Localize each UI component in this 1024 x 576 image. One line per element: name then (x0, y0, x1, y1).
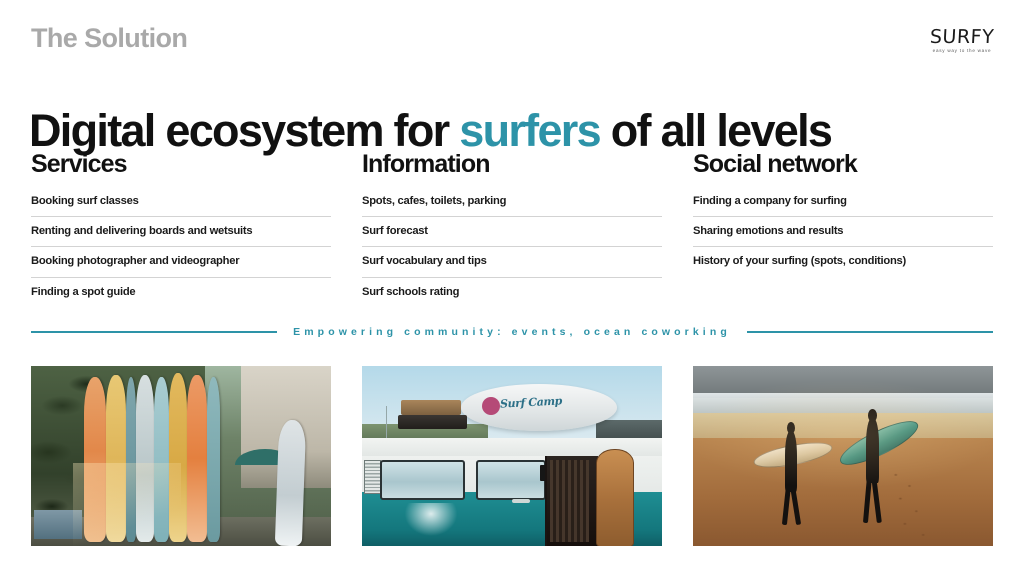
banner-text: Empowering community: events, ocean cowo… (293, 327, 731, 338)
column-list: Spots, cafes, toilets, parking Surf fore… (362, 196, 662, 298)
surfboard (136, 375, 154, 542)
roof-suitcase-bottom (398, 415, 467, 429)
surfboard (126, 377, 137, 543)
blue-bench (34, 510, 82, 539)
headline-part-before: Digital ecosystem for (29, 105, 459, 156)
list-item[interactable]: Surf vocabulary and tips (362, 256, 662, 277)
logo-wordmark: SURFY (928, 28, 997, 47)
list-item[interactable]: Booking surf classes (31, 196, 331, 217)
van-window (476, 460, 546, 500)
list-item[interactable]: Surf forecast (362, 226, 662, 247)
column-services: Services Booking surf classes Renting an… (31, 152, 331, 298)
van-side-logo (401, 503, 461, 539)
list-item[interactable]: Sharing emotions and results (693, 226, 993, 247)
lamp-post (386, 406, 387, 442)
surfer-body (785, 431, 798, 492)
photo-surfboards (31, 366, 331, 546)
column-title: Social network (693, 152, 993, 177)
surf-camp-sun-icon (482, 397, 500, 415)
page-title: Digital ecosystem for surfers of all lev… (29, 108, 831, 153)
brand-logo: SURFY easy way to the wave (928, 28, 996, 53)
column-title: Information (362, 152, 662, 177)
surfboard (275, 420, 306, 546)
photo-surf-camp-van: Surf Camp (362, 366, 662, 546)
list-item[interactable]: Booking photographer and videographer (31, 256, 331, 277)
photo-strip: Surf Camp (31, 366, 993, 546)
list-item[interactable]: Spots, cafes, toilets, parking (362, 196, 662, 217)
photo-surfers-beach (693, 366, 993, 546)
van-door-handle (512, 499, 530, 503)
feature-columns: Services Booking surf classes Renting an… (31, 152, 993, 298)
surfboard (207, 377, 221, 543)
column-list: Finding a company for surfing Sharing em… (693, 196, 993, 268)
list-item[interactable]: Finding a spot guide (31, 287, 331, 298)
door-curtain (550, 460, 589, 543)
surfboard (169, 373, 187, 542)
surfboard (154, 377, 169, 543)
eyebrow-label: The Solution (31, 24, 187, 52)
logo-tagline: easy way to the wave (916, 49, 1008, 54)
slide-root: The Solution Digital ecosystem for surfe… (0, 0, 1024, 576)
banner-rule-right (747, 331, 993, 333)
surfboard (84, 377, 107, 543)
column-social-network: Social network Finding a company for sur… (693, 152, 993, 298)
banner-rule-left (31, 331, 277, 333)
footprints (873, 467, 987, 546)
van-air-vents (364, 460, 381, 494)
surfboard (187, 375, 207, 542)
wooden-surfboard (596, 449, 634, 546)
list-item[interactable]: History of your surfing (spots, conditio… (693, 256, 993, 267)
column-title: Services (31, 152, 331, 177)
breaking-waves (693, 393, 993, 415)
community-banner: Empowering community: events, ocean cowo… (31, 327, 993, 338)
column-list: Booking surf classes Renting and deliver… (31, 196, 331, 298)
surfer-head (868, 409, 877, 422)
headline-part-after: of all levels (600, 105, 831, 156)
list-item[interactable]: Finding a company for surfing (693, 196, 993, 217)
surfer-body (866, 418, 880, 483)
surfboard (106, 375, 126, 542)
column-information: Information Spots, cafes, toilets, parki… (362, 152, 662, 298)
list-item[interactable]: Surf schools rating (362, 287, 662, 298)
van-window (380, 460, 465, 500)
headline-accent-word: surfers (459, 105, 600, 156)
roof-suitcase-top (401, 400, 461, 414)
list-item[interactable]: Renting and delivering boards and wetsui… (31, 226, 331, 247)
